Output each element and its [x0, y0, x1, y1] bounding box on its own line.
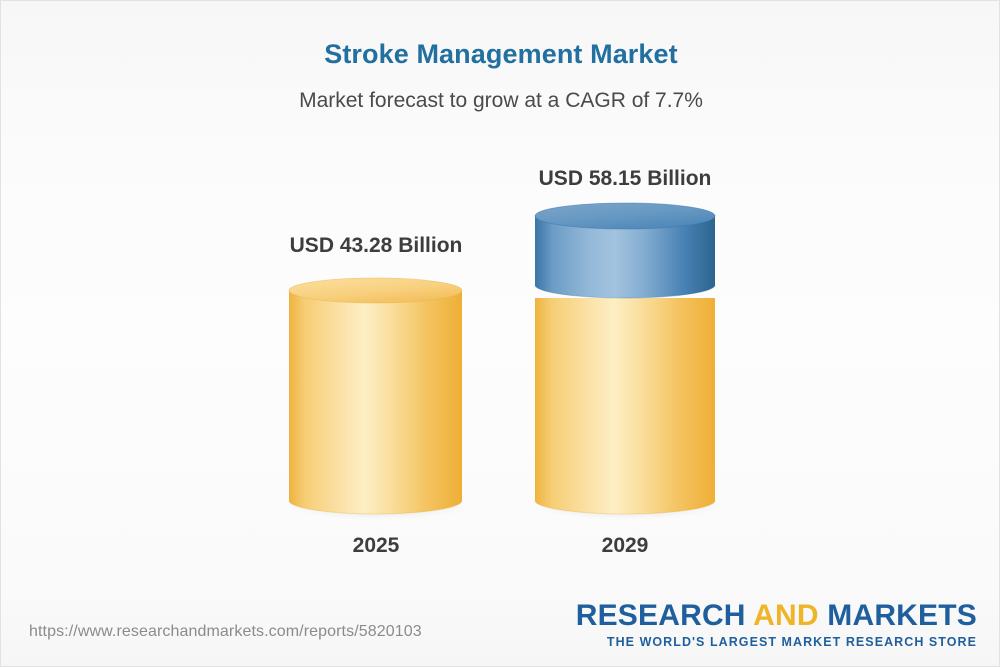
cylinder-segment-base-2029 [535, 298, 715, 514]
research-and-markets-logo[interactable]: RESEARCH AND MARKETS THE WORLD'S LARGEST… [576, 601, 977, 649]
logo-word-research: RESEARCH [576, 599, 746, 632]
cylinder-body-2025 [289, 291, 462, 515]
bar-value-label-2025: USD 43.28 Billion [226, 234, 526, 258]
logo-word-markets: MARKETS [827, 599, 977, 632]
chart-plot-area: USD 43.28 Billion [1, 1, 1000, 601]
cylinder-bar-2025 [289, 278, 462, 515]
cylinder-top-2029 [535, 203, 715, 229]
bar-category-label-2029: 2029 [475, 534, 775, 558]
logo-word-and: AND [753, 599, 819, 632]
report-url[interactable]: https://www.researchandmarkets.com/repor… [29, 623, 422, 641]
chart-card: Stroke Management Market Market forecast… [0, 0, 1000, 667]
logo-wordmark: RESEARCH AND MARKETS [576, 601, 977, 631]
cylinder-top-2025 [289, 278, 462, 303]
cylinder-bar-2029 [535, 203, 715, 515]
bar-value-label-2029: USD 58.15 Billion [475, 167, 775, 191]
logo-tagline: THE WORLD'S LARGEST MARKET RESEARCH STOR… [576, 636, 977, 649]
